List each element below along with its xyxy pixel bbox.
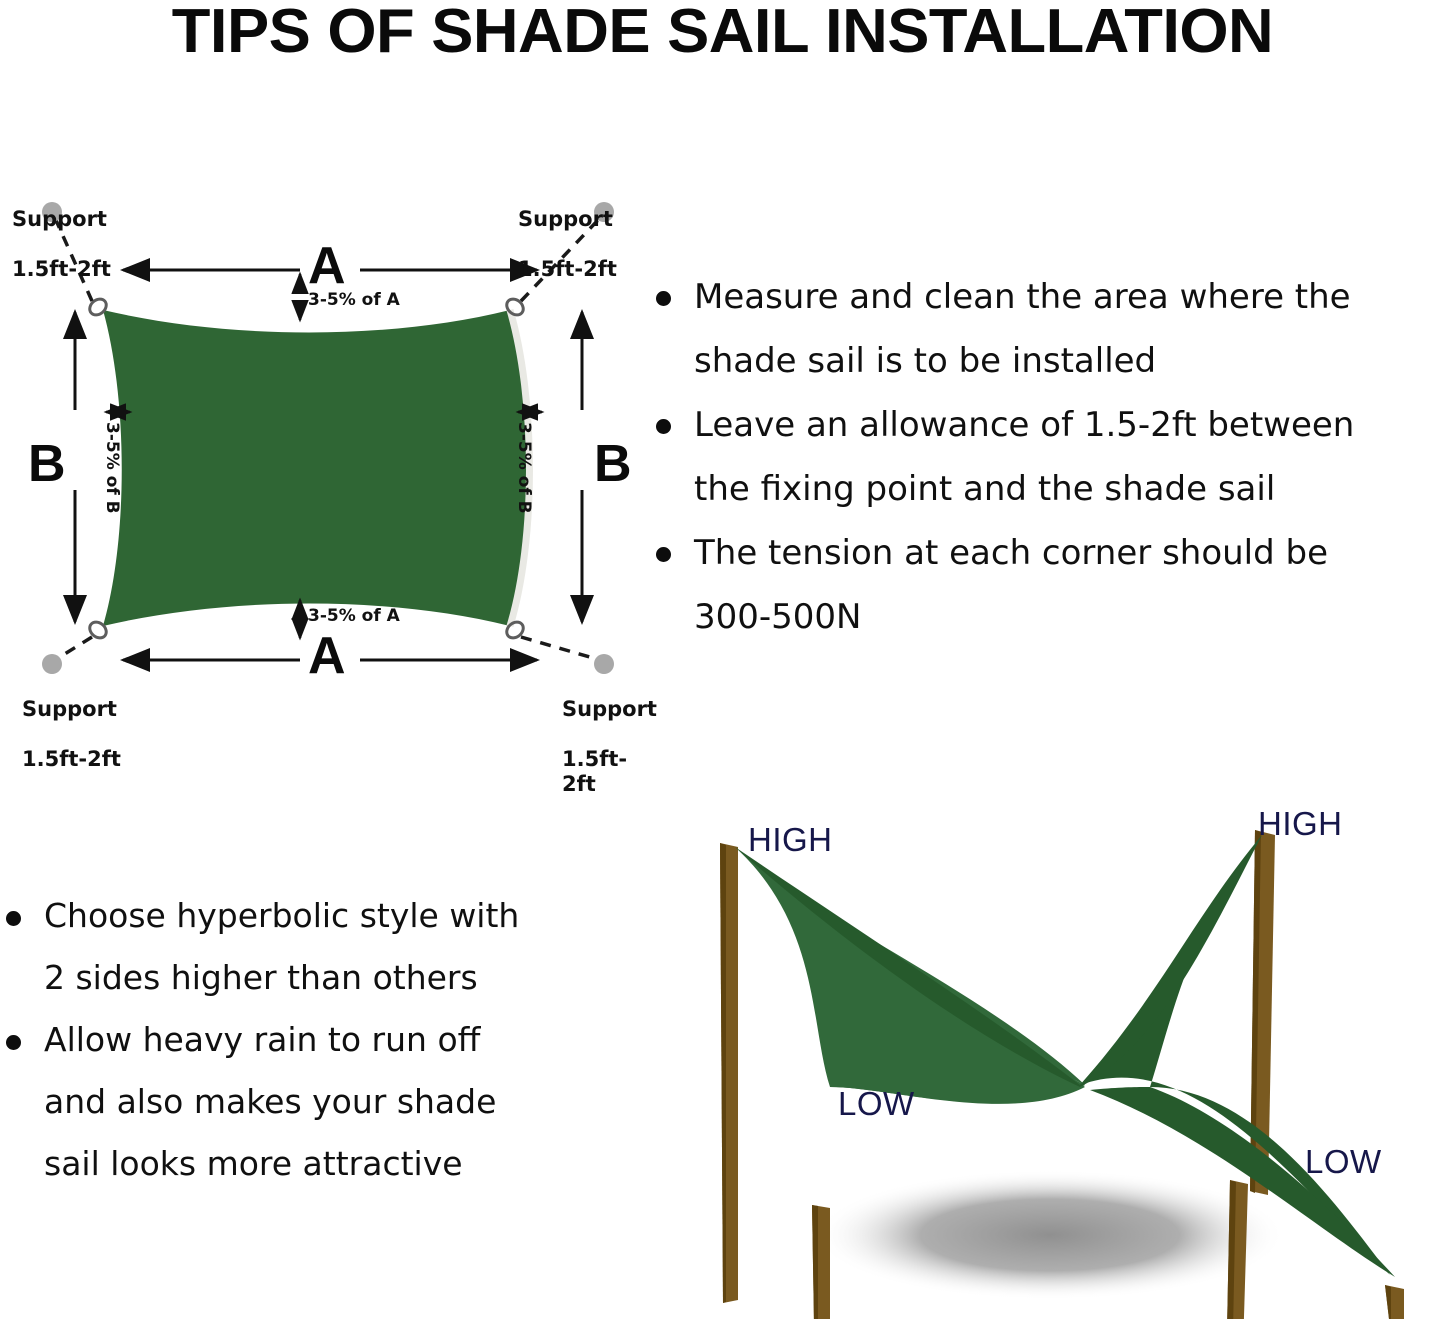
dimension-letter-b-left: B	[28, 438, 66, 490]
list-item: Allow heavy rain to run off and also mak…	[0, 1009, 620, 1195]
ground-shadow	[815, 1170, 1285, 1300]
post-high-left	[720, 843, 738, 1303]
curvature-label-top: 3-5% of A	[308, 290, 400, 310]
support-dot-br	[594, 654, 614, 674]
dash-br	[521, 637, 600, 660]
label-low-right: LOW	[1305, 1143, 1382, 1181]
dimension-letter-a-top: A	[308, 240, 346, 292]
rectangular-sail-diagram: Support 1.5ft-2ft Support 1.5ft-2ft Supp…	[0, 160, 660, 730]
support-label-top-right: Support 1.5ft-2ft	[518, 182, 617, 282]
support-line-2: 1.5ft-2ft	[562, 747, 627, 796]
sail-fabric	[103, 310, 530, 626]
support-label-bottom-left: Support 1.5ft-2ft	[22, 672, 121, 772]
post-low-far-right	[1385, 1285, 1404, 1319]
label-high-left: HIGH	[748, 821, 833, 859]
support-line-1: Support	[12, 207, 107, 231]
dimension-letter-a-bottom: A	[308, 630, 346, 682]
support-line-2: 1.5ft-2ft	[12, 257, 111, 281]
post-low-left	[812, 1205, 830, 1319]
installation-tips-list: Measure and clean the area where the sha…	[650, 265, 1445, 649]
list-item: Measure and clean the area where the sha…	[650, 265, 1445, 393]
dimension-letter-b-right: B	[594, 438, 632, 490]
dash-bl	[55, 637, 92, 660]
label-low-left: LOW	[838, 1085, 915, 1123]
support-line-1: Support	[22, 697, 117, 721]
label-high-right: HIGH	[1258, 805, 1343, 843]
curvature-label-bottom: 3-5% of A	[308, 606, 400, 626]
list-item: Choose hyperbolic style with 2 sides hig…	[0, 885, 620, 1009]
curvature-label-right: 3-5% of B	[514, 422, 534, 514]
support-label-bottom-right: Support 1.5ft-2ft	[562, 672, 660, 797]
support-line-1: Support	[518, 207, 613, 231]
curvature-label-left: 3-5% of B	[102, 422, 122, 514]
list-item: Leave an allowance of 1.5-2ft between th…	[650, 393, 1445, 521]
hyperbolic-sail-svg	[690, 795, 1445, 1319]
hyperbolic-sail-diagram: HIGH HIGH LOW LOW	[690, 795, 1445, 1319]
list-item: The tension at each corner should be 300…	[650, 521, 1445, 649]
support-dot-bl	[42, 654, 62, 674]
support-line-2: 1.5ft-2ft	[22, 747, 121, 771]
hyperbolic-tips-list: Choose hyperbolic style with 2 sides hig…	[0, 885, 620, 1195]
support-line-1: Support	[562, 697, 657, 721]
support-label-top-left: Support 1.5ft-2ft	[12, 182, 111, 282]
page-title: TIPS OF SHADE SAIL INSTALLATION	[0, 0, 1445, 67]
support-line-2: 1.5ft-2ft	[518, 257, 617, 281]
